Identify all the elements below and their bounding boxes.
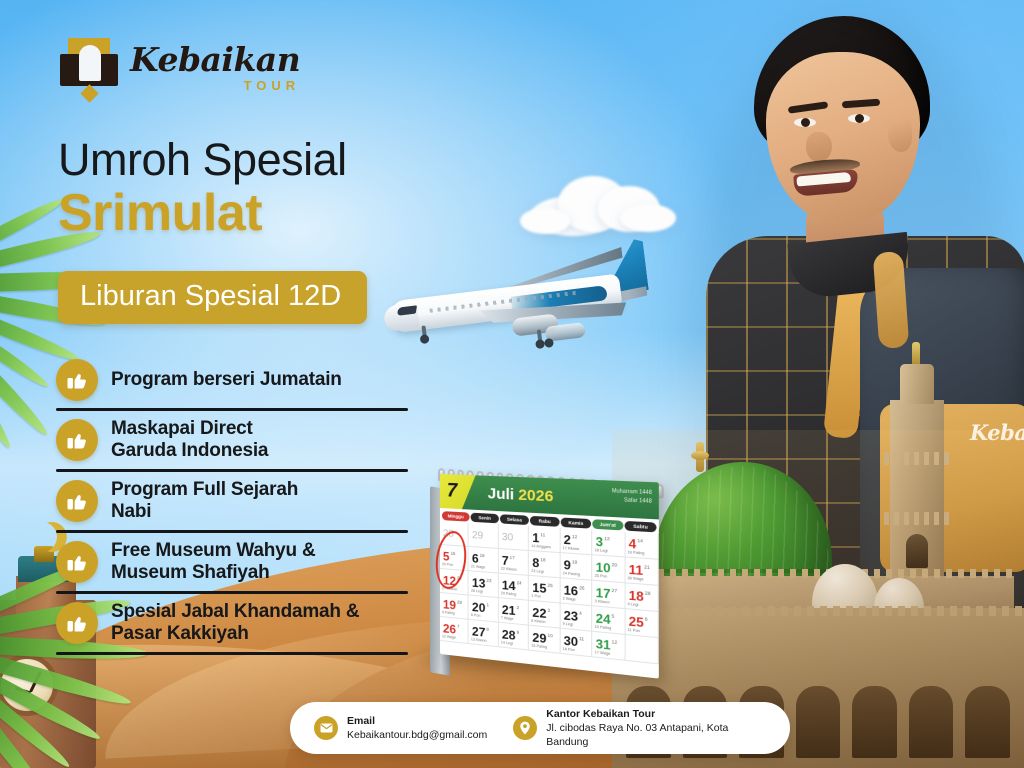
calendar-javanese-label: 8 Kliwon: [531, 619, 545, 625]
calendar-hijri-number: 1: [486, 602, 488, 607]
calendar-date-cell: 21217 Kliwon: [560, 528, 592, 555]
calendar-date-cell: 142429 Paling: [499, 574, 529, 601]
calendar-date-cell: 30: [499, 524, 529, 551]
calendar-javanese-label: 22 Kliwon: [501, 567, 517, 572]
calendar-date-cell: 28914 Legi: [499, 623, 529, 651]
calendar-javanese-label: 25 Pon: [595, 574, 608, 579]
calendar-hijri-number: 21: [644, 564, 650, 570]
calendar-hijri-number: 14: [637, 537, 643, 543]
dome-finial-icon: [696, 442, 704, 472]
calendar-javanese-label: 14 Anggara: [531, 544, 550, 549]
mosque-arch-logo-icon: [60, 38, 118, 96]
calendar-javanese-label: 2 Wage: [563, 596, 576, 601]
calendar-hijri-number: 9: [517, 629, 520, 634]
calendar-hijri-number: 23: [486, 577, 491, 582]
brand-subtitle: TOUR: [130, 79, 300, 92]
calendar-hijri-number: 15: [450, 550, 455, 555]
calendar-date-cell: 15251 Pon: [529, 576, 560, 604]
calendar-javanese-label: 7 Wage: [501, 616, 514, 621]
calendar-javanese-label: 15 Paling: [531, 644, 547, 650]
calendar-javanese-label: 26 Wage: [627, 576, 643, 582]
calendar-javanese-label: 21 Wage: [471, 564, 485, 569]
promo-badge: Liburan Spesial 12D: [58, 271, 367, 324]
calendar-javanese-label: 3 Kliwon: [595, 599, 610, 605]
brand-logo[interactable]: Kebaikan TOUR: [60, 38, 300, 96]
calendar-javanese-label: 17 Kliwon: [563, 546, 580, 551]
calendar-hijri-number: 13: [604, 535, 609, 541]
calendar-hijri-number: 4: [579, 610, 582, 616]
calendar-date-cell: 19295 Paling: [440, 593, 469, 620]
calendar-hijri-number: 8: [486, 626, 488, 631]
calendar-hijri-number: 11: [579, 635, 584, 641]
calendar-date-cell: 81823 Legi: [529, 551, 560, 578]
calendar-hijri-number: 16: [480, 552, 485, 557]
feature-label: Program berseri Jumatain: [111, 369, 342, 391]
calendar-hijri-number: 12: [572, 534, 577, 540]
contact-email[interactable]: Email Kebaikantour.bdg@gmail.com: [314, 714, 487, 742]
calendar-hijri-number: 10: [547, 632, 552, 638]
calendar-day-header: Minggu: [442, 511, 470, 522]
calendar-date-cell: 26712 Wage: [440, 617, 469, 644]
calendar-date-cell: 31318 Legi: [592, 530, 625, 558]
calendar-day-header: Senin: [471, 513, 499, 524]
calendar-date-cell: 71722 Kliwon: [499, 549, 529, 576]
calendar-date-cell: 11114 Anggara: [529, 526, 560, 553]
feature-label: Program Full SejarahNabi: [111, 479, 298, 523]
feature-item: Program Full SejarahNabi: [56, 472, 408, 530]
calendar-javanese-label: 23 Legi: [531, 569, 543, 574]
calendar-date-cell: [625, 635, 659, 664]
calendar-javanese-label: 18 Legi: [595, 548, 608, 553]
calendar-date-cell: 2238 Kliwon: [529, 601, 560, 629]
email-label: Email: [347, 714, 487, 728]
calendar-date-cell: 24510 Paling: [592, 606, 625, 635]
calendar-date-number: 29: [472, 530, 483, 542]
calendar-hijri-number: 7: [457, 623, 459, 628]
feature-label: Maskapai DirectGaruda Indonesia: [111, 418, 268, 462]
calendar-day-header: Jum'at: [592, 519, 623, 530]
calendar-javanese-label: 12 Wage: [442, 634, 456, 639]
calendar-date-cell: 28: [440, 521, 469, 547]
calendar-javanese-label: 9 Legi: [563, 622, 574, 627]
calendar-hijri-number: 20: [612, 562, 617, 568]
calendar-date-cell: 301116 Pon: [560, 629, 592, 658]
feature-label: Spesial Jabal Khandamah &Pasar Kakkiyah: [111, 601, 359, 645]
calendar-javanese-label: 10 Paling: [595, 625, 612, 631]
calendar-date-grid: 28293011114 Anggara21217 Kliwon31318 Leg…: [440, 521, 659, 664]
calendar-date-cell: 2349 Legi: [560, 604, 592, 632]
calendar-javanese-label: 28 Legi: [471, 589, 483, 594]
calendar-javanese-label: 13 Kliwon: [471, 637, 487, 643]
calendar-day-header: Kamis: [561, 517, 591, 528]
calendar-hijri-number: 2: [517, 605, 520, 610]
calendar-hijri-number: 28: [645, 590, 651, 596]
calendar-javanese-label: 17 Wage: [595, 650, 611, 656]
calendar-date-cell: 91924 Paning: [560, 553, 592, 581]
calendar-date-cell: 41419 Paling: [625, 532, 659, 560]
thumbs-up-icon: [56, 541, 98, 583]
calendar-date-cell: 122227 Kliwon: [440, 569, 469, 596]
calendar-date-cell: 2127 Wage: [499, 598, 529, 626]
calendar-date-cell: 27813 Kliwon: [469, 620, 499, 647]
contact-office[interactable]: Kantor Kebaikan Tour Jl. cibodas Raya No…: [513, 707, 766, 750]
feature-item: Spesial Jabal Khandamah &Pasar Kakkiyah: [56, 594, 408, 652]
thumbs-up-icon: [56, 419, 98, 461]
calendar-hijri-number: 24: [517, 580, 522, 586]
feature-item: Program berseri Jumatain: [56, 352, 408, 408]
calendar-month-name: Juli: [488, 484, 514, 503]
calendar-year: 2026: [518, 486, 553, 505]
calendar-hijri-number: 27: [612, 587, 617, 593]
thumbs-up-icon: [56, 480, 98, 522]
calendar-hijri-number: 6: [645, 616, 648, 622]
calendar-date-number: 30: [502, 532, 513, 544]
calendar-date-cell: 311217 Wage: [592, 632, 625, 661]
calendar-hijri-labels: Muharram 1448 Safar 1448: [612, 488, 652, 506]
calendar-hijri-number: 17: [510, 555, 515, 561]
calendar-hijri-number: 5: [612, 613, 615, 619]
calendar-date-number: 28: [443, 528, 454, 540]
calendar-date-cell: 291015 Paling: [529, 626, 560, 654]
calendar-javanese-label: 1 Pon: [531, 594, 541, 599]
calendar-javanese-label: 6 Pon: [471, 613, 480, 618]
calendar-illustration: 7 Juli 2026 Muharram 1448 Safar 1448 Min…: [414, 468, 648, 680]
calendar-date-cell: 132328 Legi: [469, 571, 499, 598]
cloud-icon: [520, 168, 680, 240]
thumbs-up-icon: [56, 359, 98, 401]
calendar-hijri-number: 22: [457, 575, 462, 580]
calendar-javanese-label: 4 Legi: [627, 602, 638, 607]
calendar-date-cell: 2016 Pon: [469, 596, 499, 623]
envelope-icon: [314, 716, 338, 740]
calendar-date-cell: 16262 Wage: [560, 578, 592, 606]
calendar-month-tab: 7: [440, 474, 476, 510]
calendar-hijri-number: 25: [547, 582, 552, 588]
calendar-javanese-label: 5 Paling: [442, 610, 455, 615]
office-value: Jl. cibodas Raya No. 03 Antapani, Kota B…: [546, 721, 766, 749]
calendar-javanese-label: 14 Legi: [501, 640, 513, 645]
calendar-date-cell: 18284 Legi: [625, 583, 659, 612]
headline-block: Umroh Spesial Srimulat: [58, 136, 347, 240]
calendar-hijri-number: 29: [457, 599, 462, 604]
calendar-date-cell: 112126 Wage: [625, 558, 659, 586]
calendar-date-cell: 102025 Pon: [592, 555, 625, 583]
calendar-hijri-number: 26: [579, 585, 584, 591]
office-label: Kantor Kebaikan Tour: [546, 707, 766, 721]
calendar-date-cell: 29: [469, 523, 499, 549]
calendar-javanese-label: 19 Paling: [627, 550, 644, 555]
feature-item: Maskapai DirectGaruda Indonesia: [56, 411, 408, 469]
calendar-day-header: Sabtu: [625, 521, 657, 533]
calendar-day-header: Selasa: [500, 514, 529, 525]
feature-item: Free Museum Wahyu &Museum Shafiyah: [56, 533, 408, 591]
location-pin-icon: [513, 716, 537, 740]
calendar-hijri-number: 19: [572, 559, 577, 565]
calendar-javanese-label: 20 Pon: [442, 562, 453, 567]
headline-line-2: Srimulat: [58, 186, 347, 241]
calendar-day-header: Rabu: [530, 516, 560, 527]
calendar-hijri-number: 12: [612, 639, 617, 645]
calendar-date-cell: 61621 Wage: [469, 547, 499, 574]
calendar-javanese-label: 11 Pon: [627, 628, 640, 634]
calendar-javanese-label: 24 Paning: [563, 571, 581, 577]
calendar-javanese-label: 16 Pon: [563, 647, 575, 653]
contact-bar: Email Kebaikantour.bdg@gmail.com Kantor …: [290, 702, 790, 754]
calendar-hijri-number: 11: [540, 532, 545, 538]
calendar-javanese-label: 27 Kliwon: [442, 586, 457, 591]
umroh-promo-poster: Kebaikan TOUR: [0, 0, 1024, 768]
calendar-javanese-label: 29 Paling: [501, 591, 516, 596]
feature-label: Free Museum Wahyu &Museum Shafiyah: [111, 540, 316, 584]
headline-line-1: Umroh Spesial: [58, 136, 347, 184]
calendar-date-cell: 17273 Kliwon: [592, 581, 625, 609]
calendar-date-cell: 51520 Pon: [440, 545, 469, 571]
calendar-date-cell: 25611 Pon: [625, 609, 659, 638]
feature-list: Program berseri JumatainMaskapai DirectG…: [56, 352, 408, 655]
email-value: Kebaikantour.bdg@gmail.com: [347, 728, 487, 742]
calendar-hijri-number: 18: [540, 557, 545, 563]
feature-divider: [56, 652, 408, 655]
brand-name: Kebaikan: [130, 43, 300, 76]
thumbs-up-icon: [56, 602, 98, 644]
calendar-hijri-number: 3: [547, 607, 550, 612]
